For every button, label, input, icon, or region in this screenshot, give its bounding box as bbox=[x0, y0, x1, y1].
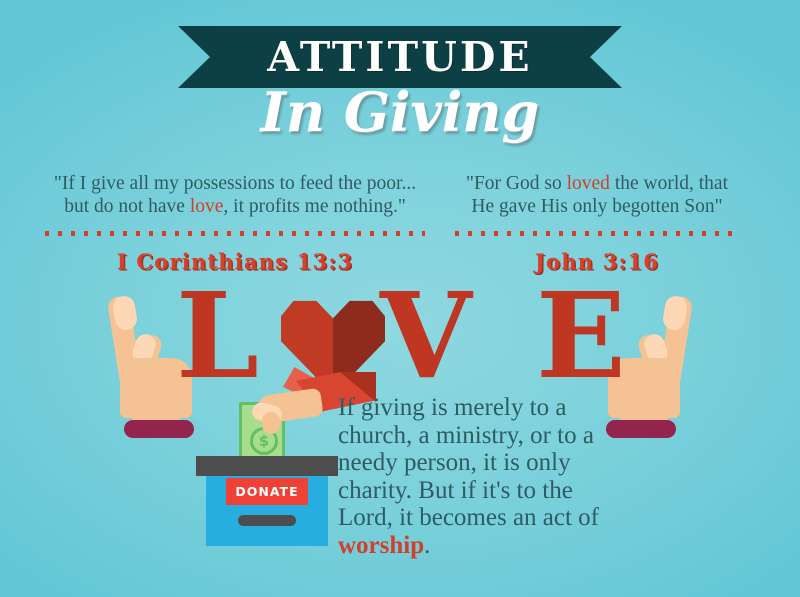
verse-right-highlight: loved bbox=[567, 173, 610, 194]
love-letter-e: E bbox=[536, 286, 626, 386]
donate-button-label: DONATE bbox=[235, 484, 298, 499]
body-paragraph-highlight: worship bbox=[338, 532, 424, 559]
verse-right-line2: He gave His only begotten Son" bbox=[432, 195, 762, 218]
body-paragraph-part1: If giving is merely to a church, a minis… bbox=[338, 394, 599, 531]
verse-left-line1: "If I give all my possessions to feed th… bbox=[40, 172, 430, 195]
body-paragraph: If giving is merely to a church, a minis… bbox=[338, 394, 618, 559]
donate-button[interactable]: DONATE bbox=[226, 478, 308, 505]
verse-right-before: "For God so bbox=[466, 173, 567, 194]
verse-left-line2: but do not have love, it profits me noth… bbox=[40, 195, 430, 218]
love-letter-l: L bbox=[176, 286, 259, 386]
divider-dots-right bbox=[455, 231, 740, 236]
divider-dots-left bbox=[45, 231, 425, 236]
love-wordmark: L V E bbox=[0, 292, 800, 392]
verse-left-line2-before: but do not have bbox=[64, 196, 190, 217]
love-letter-v: V bbox=[380, 286, 472, 386]
infographic-canvas: ATTITUDE In Giving "If I give all my pos… bbox=[0, 0, 800, 597]
page-title: ATTITUDE bbox=[178, 26, 622, 88]
verse-right: "For God so loved the world, that He gav… bbox=[432, 172, 762, 218]
hand-left-sleeve-cuff bbox=[124, 420, 194, 438]
page-subtitle: In Giving bbox=[0, 85, 800, 139]
verse-left-highlight: love bbox=[190, 196, 224, 217]
donation-box-lid bbox=[196, 456, 338, 476]
banner: ATTITUDE bbox=[0, 26, 800, 88]
donation-box-slot bbox=[238, 515, 296, 526]
verse-left-line2-after: , it profits me nothing." bbox=[223, 196, 405, 217]
body-paragraph-part2: . bbox=[424, 532, 430, 559]
verse-right-after: the world, that bbox=[610, 173, 728, 194]
verse-left: "If I give all my possessions to feed th… bbox=[40, 172, 430, 218]
verse-right-line1: "For God so loved the world, that bbox=[432, 172, 762, 195]
giving-hand-finger bbox=[262, 412, 280, 434]
giving-hand bbox=[248, 386, 328, 432]
